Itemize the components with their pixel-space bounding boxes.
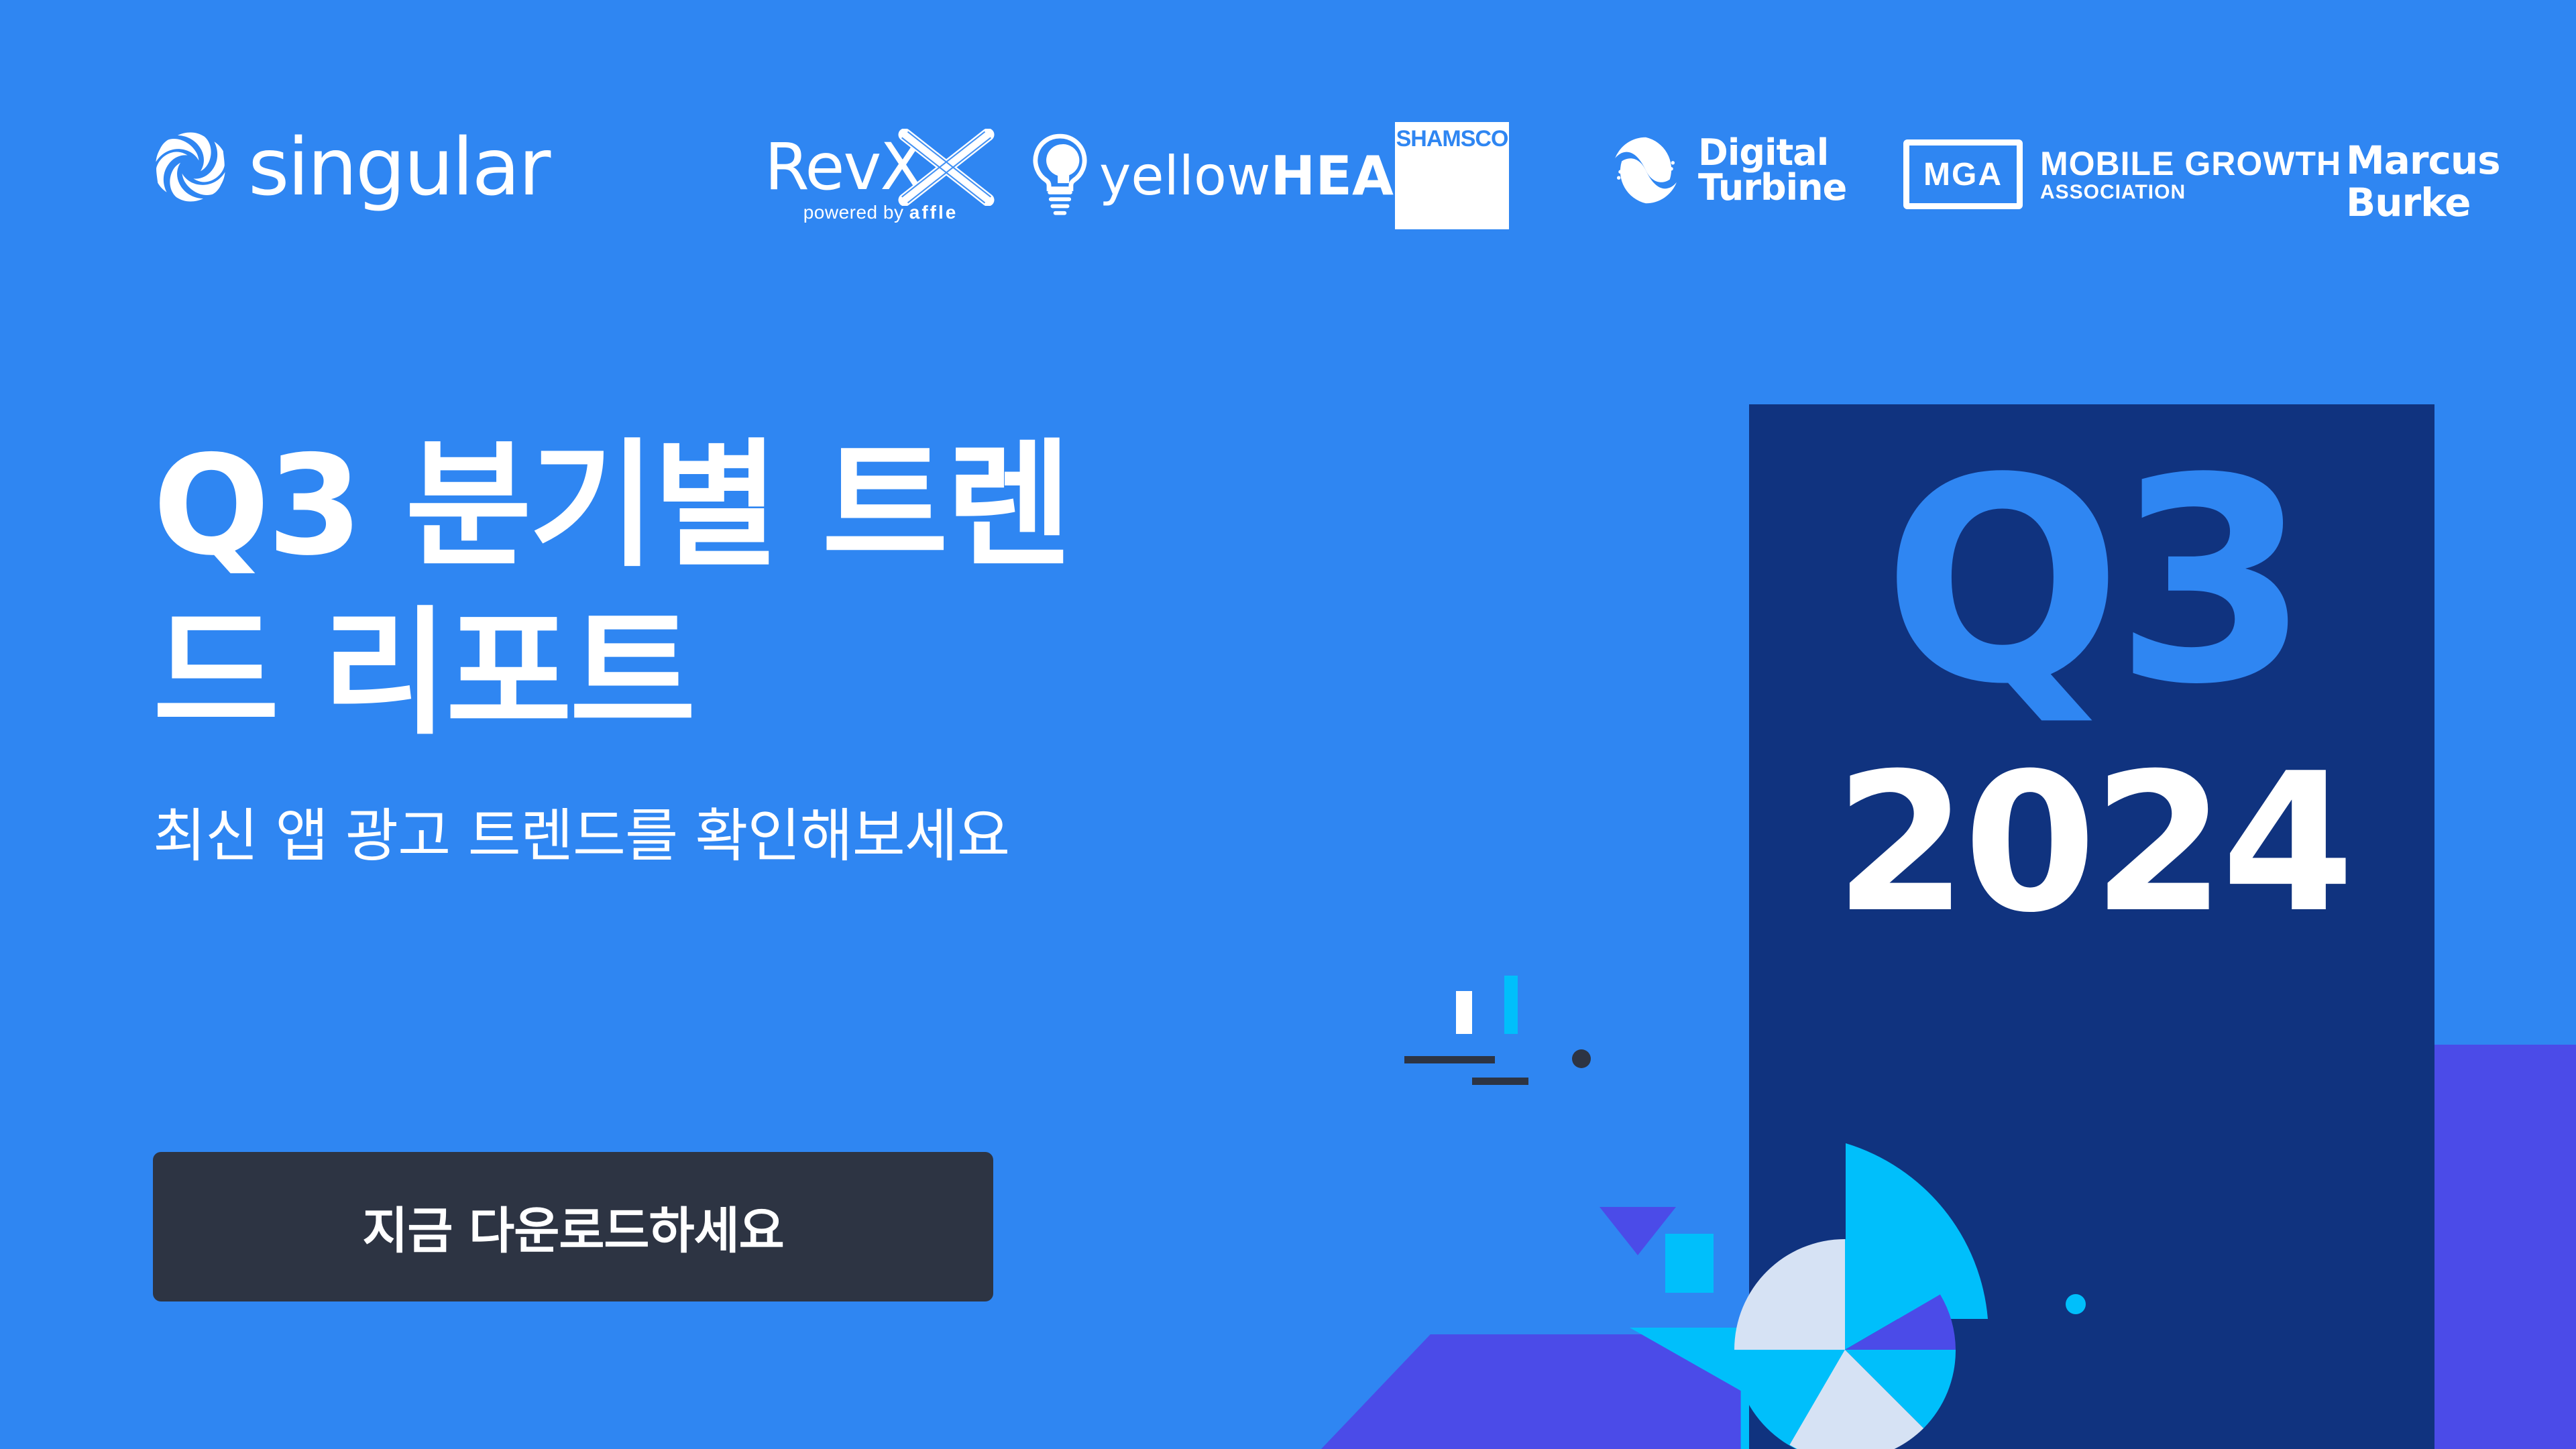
- mga-abbr-box: MGA: [1903, 139, 2023, 209]
- logo-revx-sub: powered by affle: [803, 202, 958, 223]
- yellowhead-light: yellow: [1099, 145, 1270, 207]
- pinwheel-circle: [1734, 1239, 1956, 1449]
- logo-marcus-burke[interactable]: Marcus Burke: [2346, 139, 2500, 223]
- logo-yellowhead-label: yellowHEAD: [1099, 150, 1438, 203]
- partner-logo-strip: singular RevX powered by affle: [0, 101, 2576, 255]
- logo-singular[interactable]: singular: [153, 127, 549, 207]
- logo-yellowhead[interactable]: yellowHEAD: [1025, 133, 1438, 220]
- download-now-button[interactable]: 지금 다운로드하세요: [153, 1152, 993, 1301]
- logo-marcus-burke-label: Marcus Burke: [2346, 139, 2500, 223]
- lightbulb-icon: [1025, 133, 1095, 220]
- revx-cross-icon: [896, 129, 997, 206]
- logo-digital-turbine-label: Digital Turbine: [1698, 135, 1846, 205]
- mga-wordmark: MOBILE GROWTH ASSOCIATION: [2040, 146, 2341, 202]
- logo-digital-turbine[interactable]: Digital Turbine: [1608, 133, 1846, 208]
- revx-sub-brand: affle: [909, 202, 958, 223]
- chart-bar-white: [1456, 991, 1472, 1034]
- mga-line2: ASSOCIATION: [2040, 182, 2341, 203]
- chart-rule-long: [1404, 1056, 1495, 1063]
- logo-shamsco-label: SHAMSCO: [1396, 126, 1508, 152]
- turbine-circle-icon: [1608, 133, 1683, 208]
- logo-mga[interactable]: MGA MOBILE GROWTH ASSOCIATION: [1903, 139, 2341, 209]
- panel-year-label: 2024: [1811, 758, 2374, 930]
- cyan-square: [1665, 1234, 1714, 1293]
- mga-line1: MOBILE GROWTH: [2040, 146, 2341, 182]
- hero-copy: Q3 분기별 트렌 드 리포트 최신 앱 광고 트렌드를 확인해보세요: [153, 422, 1662, 872]
- mga-abbr-label: MGA: [1923, 156, 2003, 193]
- page-title: Q3 분기별 트렌 드 리포트: [153, 422, 1662, 758]
- shamsco-square: SHAMSCO: [1395, 122, 1509, 229]
- logo-revx[interactable]: RevX powered by affle: [765, 129, 997, 223]
- chart-bar-cyan: [1504, 976, 1518, 1034]
- chart-rule-short: [1472, 1078, 1528, 1085]
- purple-triangle: [1600, 1207, 1676, 1255]
- dt-line2: Turbine: [1698, 170, 1846, 205]
- right-purple-block: [2434, 1045, 2576, 1449]
- revx-sub-prefix: powered by: [803, 202, 909, 223]
- chart-dot-dark: [1572, 1049, 1591, 1068]
- page-subtitle: 최신 앱 광고 트렌드를 확인해보세요: [153, 789, 1662, 872]
- panel-quarter-label: Q3: [1811, 456, 2374, 709]
- dt-line1: Digital: [1698, 135, 1846, 170]
- banner-stage: singular RevX powered by affle: [0, 0, 2576, 1449]
- mb-line1: Marcus: [2346, 139, 2500, 182]
- mb-line2: Burke: [2346, 182, 2500, 224]
- pinwheel-slice-light-tl: [1734, 1239, 1845, 1350]
- aperture-spiral-icon: [153, 129, 228, 205]
- logo-singular-label: singular: [248, 127, 549, 207]
- logo-shamsco[interactable]: SHAMSCO: [1395, 122, 1509, 229]
